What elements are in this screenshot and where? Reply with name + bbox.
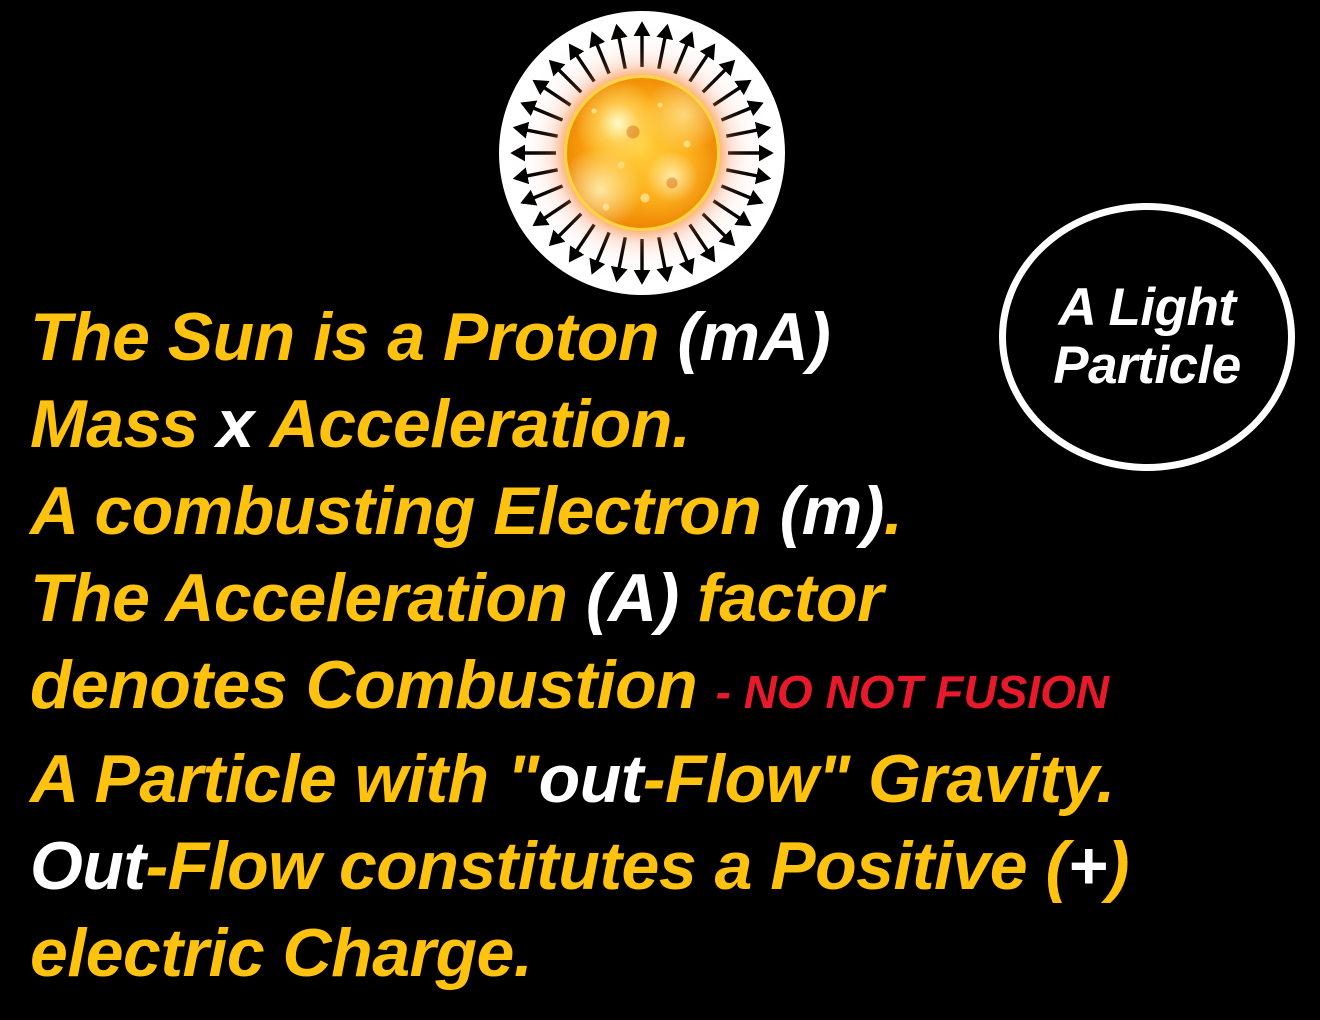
- caption-line-5: denotes Combustion - NO NOT FUSION: [30, 642, 1300, 736]
- outward-arrow: [617, 237, 625, 279]
- caption-line-4: The Acceleration (A) factor: [30, 555, 1300, 642]
- outward-arrow: [593, 34, 609, 74]
- text-segment: -Flow constitutes a Positive (: [146, 828, 1068, 904]
- text-segment: x: [217, 386, 254, 462]
- caption-line-6: A Particle with "out-Flow" Gravity.: [30, 736, 1300, 823]
- light-particle-bubble: A Light Particle: [999, 203, 1295, 471]
- outward-arrow: [551, 214, 581, 244]
- text-segment: ): [1107, 828, 1129, 904]
- sun-core: [567, 78, 717, 228]
- outward-arrow: [551, 62, 581, 92]
- outward-arrow: [570, 225, 594, 261]
- outward-arrow: [675, 34, 691, 74]
- outward-arrow: [535, 81, 571, 105]
- text-segment: denotes Combustion: [30, 647, 716, 723]
- outward-arrow: [523, 186, 563, 202]
- text-segment: A combusting Electron: [30, 473, 780, 549]
- outward-arrow: [515, 128, 557, 136]
- outward-arrow: [690, 225, 714, 261]
- outward-arrow: [617, 26, 625, 68]
- outward-arrow: [593, 232, 609, 272]
- text-segment: factor: [679, 560, 883, 636]
- text-segment: - NO NOT FUSION: [716, 666, 1110, 718]
- outward-arrow: [726, 170, 768, 178]
- bubble-line-1: A Light: [1058, 279, 1235, 337]
- text-segment: Mass: [30, 386, 217, 462]
- text-segment: A Particle with ": [30, 741, 539, 817]
- bubble-line-2: Particle: [1053, 337, 1241, 395]
- text-segment: -Flow" Gravity.: [643, 741, 1115, 817]
- outward-arrow: [714, 81, 750, 105]
- outward-arrow: [714, 201, 750, 225]
- outward-arrow: [721, 186, 761, 202]
- text-segment: +: [1068, 828, 1107, 904]
- outward-arrow: [726, 128, 768, 136]
- outward-arrow: [570, 46, 594, 82]
- text-segment: electric Charge.: [30, 915, 532, 991]
- slide-canvas: The Sun is a Proton (mA)Mass x Accelerat…: [0, 0, 1320, 1020]
- text-segment: (m): [780, 473, 884, 549]
- outward-arrow: [535, 201, 571, 225]
- caption-line-3: A combusting Electron (m).: [30, 468, 1300, 555]
- text-segment: .: [884, 473, 902, 549]
- text-segment: Acceleration.: [254, 386, 690, 462]
- text-segment: (A): [586, 560, 679, 636]
- text-segment: (mA): [677, 299, 830, 375]
- outward-arrow: [523, 104, 563, 120]
- text-segment: out: [539, 741, 643, 817]
- outward-arrow: [675, 232, 691, 272]
- text-segment: Out: [30, 828, 146, 904]
- outward-arrow: [703, 62, 733, 92]
- caption-line-8: electric Charge.: [30, 910, 1300, 997]
- outward-arrow: [659, 237, 667, 279]
- outward-arrow: [703, 214, 733, 244]
- text-segment: The Sun is a Proton: [30, 299, 677, 375]
- outward-arrow: [515, 170, 557, 178]
- text-segment: The Acceleration: [30, 560, 586, 636]
- outward-arrow: [721, 104, 761, 120]
- outward-arrow: [659, 26, 667, 68]
- caption-line-7: Out-Flow constitutes a Positive (+): [30, 823, 1300, 910]
- outward-arrow: [690, 46, 714, 82]
- sun-figure: [499, 11, 785, 295]
